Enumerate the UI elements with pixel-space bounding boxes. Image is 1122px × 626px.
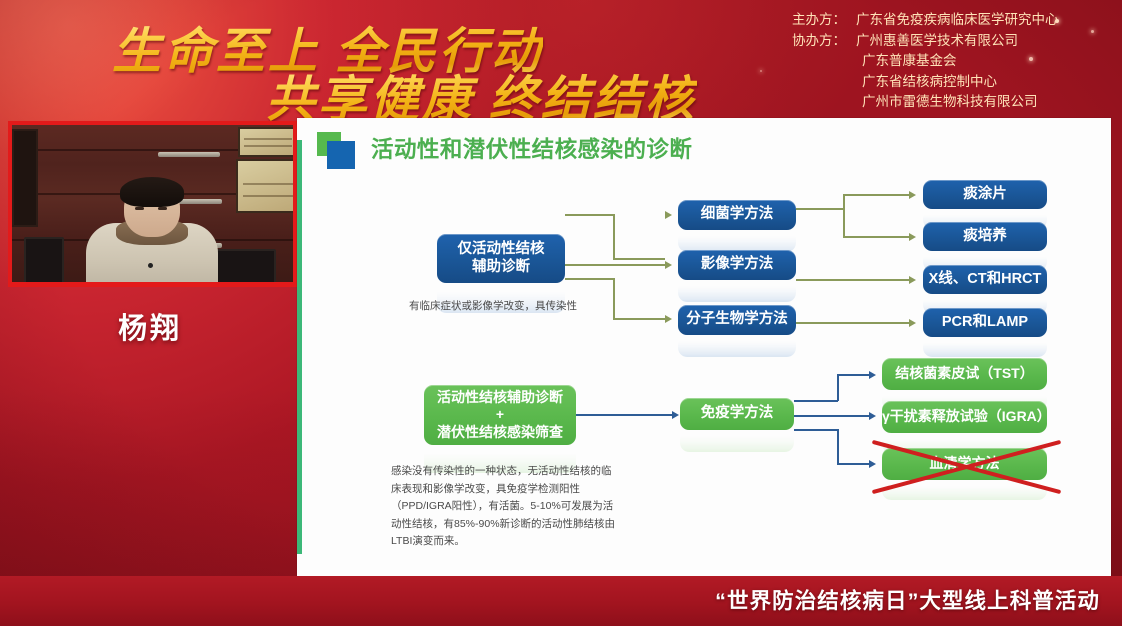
upper-method-box-0[interactable]: 细菌学方法 (678, 200, 796, 230)
connector-line (565, 264, 665, 266)
box-reflection (678, 335, 796, 357)
wall-plaque (236, 159, 297, 213)
connector-arrow (869, 371, 876, 379)
connector-arrow (909, 276, 916, 284)
lower-result-box-0[interactable]: 结核菌素皮试（TST） (882, 358, 1047, 390)
upper-method-box-2[interactable]: 分子生物学方法 (678, 305, 796, 335)
connector-line (837, 463, 869, 465)
lower-source-note: 感染没有传染性的一种状态，无活动性结核的临床表现和影像学改变，具免疫学检测阳性（… (391, 463, 621, 551)
connector-arrow (665, 315, 672, 323)
speaker-video[interactable] (8, 121, 297, 287)
upper-source-line-2: 辅助诊断 (472, 259, 530, 277)
connector-arrow (672, 411, 679, 419)
connector-line (794, 415, 869, 417)
organizer-row: 主办方： 广东省免疫疾病临床医学研究中心 (792, 10, 1118, 31)
connector-line (796, 208, 844, 210)
upper-source-line-1: 仅活动性结核 (458, 241, 545, 259)
coorganizer-row: 协办方： 广州惠善医学技术有限公司 (792, 31, 1118, 52)
upper-source-note: 有临床症状或影像学改变，具传染性 (409, 298, 577, 315)
upper-result-box-0[interactable]: 痰涂片 (923, 180, 1047, 209)
bottom-banner: “世界防治结核病日”大型线上科普活动 (0, 576, 1122, 626)
upper-source-box[interactable]: 仅活动性结核 辅助诊断 (437, 234, 565, 283)
connector-line (565, 214, 615, 216)
connector-line (837, 374, 869, 376)
speaker-hair (120, 177, 184, 207)
upper-result-box-1[interactable]: 痰培养 (923, 222, 1047, 251)
organizer-value: 广东省免疫疾病临床医学研究中心 (856, 10, 1059, 31)
connector-line (843, 236, 909, 238)
box-reflection (678, 230, 796, 252)
organizer-label: 主办方： (792, 10, 856, 31)
connector-arrow (909, 233, 916, 241)
box-reflection (923, 337, 1047, 357)
upper-method-box-1[interactable]: 影像学方法 (678, 250, 796, 280)
lower-source-line-1: 活动性结核辅助诊断 (437, 389, 563, 406)
coorganizer-value-0: 广州惠善医学技术有限公司 (856, 31, 1018, 52)
slide-left-accent (297, 140, 302, 554)
coorganizer-value-2: 广东省结核病控制中心 (792, 72, 1118, 93)
coorganizer-label: 协办方： (792, 31, 856, 52)
presentation-slide[interactable]: 活动性和潜伏性结核感染的诊断 仅活动性结核 辅助诊断 有临床症状或影像学改变，具… (297, 118, 1111, 576)
connector-arrow (665, 211, 672, 219)
slide-header: 活动性和潜伏性结核感染的诊断 (317, 132, 692, 164)
wall-trim (158, 152, 220, 157)
upper-result-box-3[interactable]: PCR和LAMP (923, 308, 1047, 337)
connector-arrow (909, 319, 916, 327)
lower-source-line-3: 潜伏性结核感染筛查 (437, 424, 563, 441)
connector-line (843, 194, 845, 238)
desk-monitor (24, 237, 64, 287)
lower-method-box[interactable]: 免疫学方法 (680, 398, 794, 430)
speaker-eye (158, 207, 167, 210)
connector-line (613, 214, 615, 259)
connector-line (796, 322, 909, 324)
coorganizer-value-1: 广东普康基金会 (792, 51, 1118, 72)
video-border (8, 121, 12, 287)
connector-line (796, 279, 909, 281)
crossed-out-marker-icon (869, 436, 1064, 494)
upper-result-box-2[interactable]: X线、CT和HRCT (923, 265, 1047, 294)
banner-text: “世界防治结核病日”大型线上科普活动 (715, 584, 1100, 615)
connector-line (565, 278, 615, 280)
broadcast-screen: 生命至上 全民行动 共享健康 终结结核 主办方： 广东省免疫疾病临床医学研究中心… (0, 0, 1122, 626)
blue-square-icon (327, 141, 355, 169)
lapel-mic-icon (148, 263, 153, 268)
connector-line (613, 278, 615, 320)
event-headline: 生命至上 全民行动 共享健康 终结结核 (108, 6, 728, 116)
connector-arrow (665, 261, 672, 269)
slide-title: 活动性和潜伏性结核感染的诊断 (371, 132, 692, 164)
lower-result-box-1[interactable]: γ干扰素释放试验（IGRA） (882, 401, 1047, 433)
connector-line (843, 194, 909, 196)
connector-line (837, 374, 839, 401)
lower-source-box[interactable]: 活动性结核辅助诊断 + 潜伏性结核感染筛查 (424, 385, 576, 445)
video-border (8, 121, 297, 125)
connector-arrow (909, 191, 916, 199)
coorganizer-value-3: 广州市雷德生物科技有限公司 (792, 92, 1118, 113)
box-reflection (680, 430, 794, 452)
connector-line (613, 318, 665, 320)
connector-line (794, 429, 838, 431)
lower-source-line-2: + (496, 406, 504, 423)
speaker-eye (135, 207, 144, 210)
sparkle-icon (760, 70, 762, 72)
connector-line (837, 429, 839, 464)
sponsor-block: 主办方： 广东省免疫疾病临床医学研究中心 协办方： 广州惠善医学技术有限公司 广… (792, 10, 1118, 113)
video-border (8, 282, 297, 287)
connector-line (576, 414, 672, 416)
wall-plaque (238, 127, 297, 157)
connector-arrow (869, 412, 876, 420)
speaker-figure (86, 179, 218, 287)
speaker-name: 杨翔 (0, 305, 300, 347)
connector-line (613, 258, 665, 260)
connector-arrow (869, 460, 876, 468)
box-reflection (678, 280, 796, 302)
connector-line (794, 400, 838, 402)
wall-picture-frame (12, 129, 38, 227)
